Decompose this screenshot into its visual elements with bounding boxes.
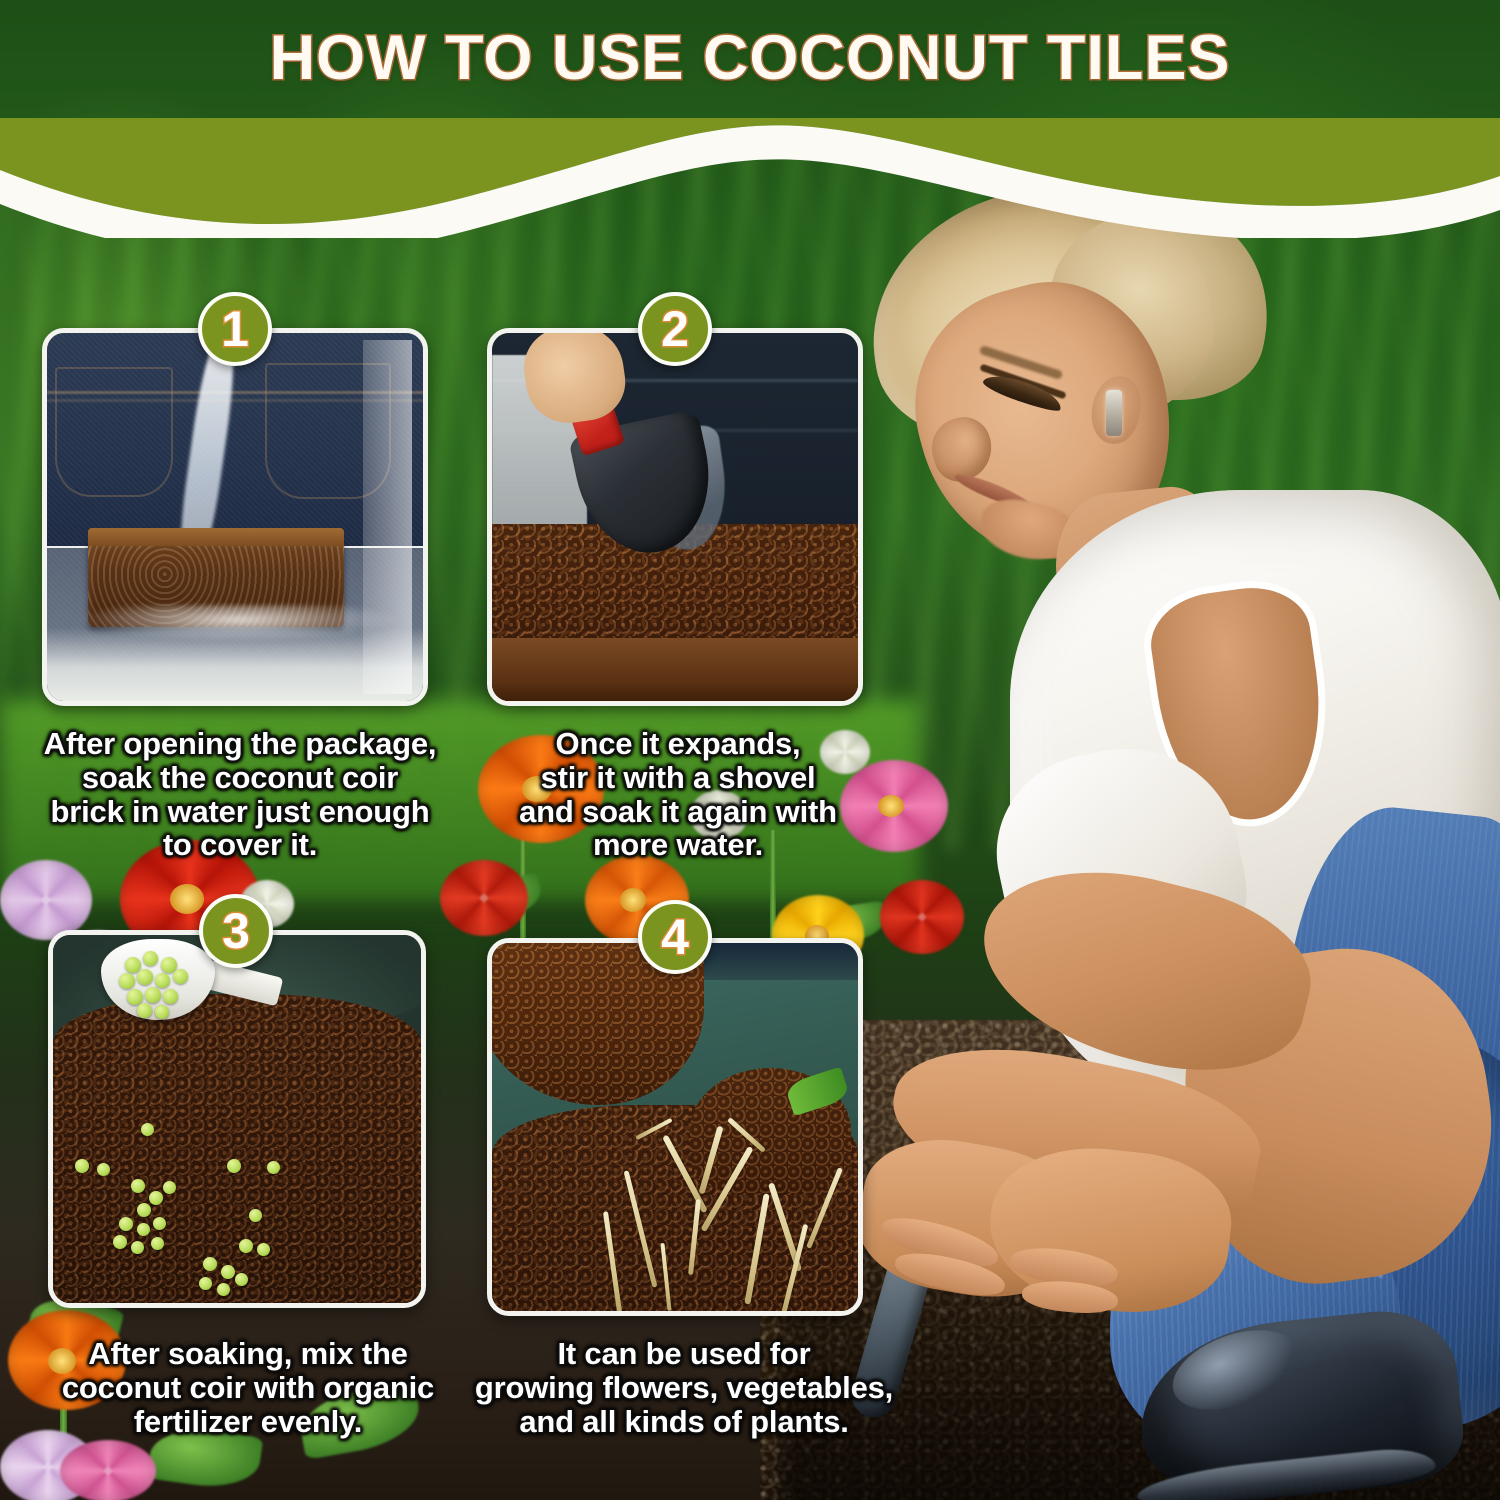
caption-line: and all kinds of plants.	[466, 1405, 902, 1439]
caption-line: soak the coconut coir	[30, 761, 450, 795]
caption-line: After opening the package,	[30, 727, 450, 761]
caption-line: stir it with a shovel	[482, 761, 874, 795]
caption-line: more water.	[482, 828, 874, 862]
step-2-caption: Once it expands, stir it with a shovel a…	[482, 727, 874, 862]
step-4-badge: 4	[638, 900, 712, 974]
flower-lilac	[0, 860, 92, 940]
step-1-thumbnail[interactable]	[42, 328, 428, 706]
woman-gardener	[860, 190, 1500, 1420]
flower-red-3	[440, 860, 528, 936]
water-splash	[77, 605, 400, 642]
step-4-caption: It can be used for growing flowers, vege…	[466, 1337, 902, 1438]
step-1-caption: After opening the package, soak the coco…	[30, 727, 450, 862]
caption-line: Once it expands,	[482, 727, 874, 761]
flower-pink-2	[60, 1440, 156, 1500]
caption-line: growing flowers, vegetables,	[466, 1371, 902, 1405]
step-3-caption: After soaking, mix the coconut coir with…	[38, 1337, 458, 1438]
step-1-number: 1	[221, 304, 249, 354]
caption-line: brick in water just enough	[30, 795, 450, 829]
step-3-number: 3	[222, 906, 250, 956]
caption-line: fertilizer evenly.	[38, 1405, 458, 1439]
step-4-number: 4	[661, 912, 689, 962]
wave-divider	[0, 118, 1500, 238]
step-2-badge: 2	[638, 292, 712, 366]
earring	[1106, 390, 1122, 436]
caption-line: It can be used for	[466, 1337, 902, 1371]
step-3-thumbnail[interactable]	[48, 930, 426, 1308]
header-banner: HOW TO USE COCONUT TILES	[0, 0, 1500, 230]
coir-medium	[53, 994, 421, 1303]
step-2-number: 2	[661, 304, 689, 354]
step-2-thumbnail[interactable]	[487, 328, 863, 706]
infographic-canvas: HOW TO USE COCONUT TILES 1 After opening	[0, 0, 1500, 1500]
step-4-thumbnail[interactable]	[487, 938, 863, 1316]
caption-line: After soaking, mix the	[38, 1337, 458, 1371]
page-title: HOW TO USE COCONUT TILES	[0, 22, 1500, 94]
caption-line: and soak it again with	[482, 795, 874, 829]
step-1-badge: 1	[198, 292, 272, 366]
step-3-badge: 3	[199, 894, 273, 968]
caption-line: coconut coir with organic	[38, 1371, 458, 1405]
caption-line: to cover it.	[30, 828, 450, 862]
